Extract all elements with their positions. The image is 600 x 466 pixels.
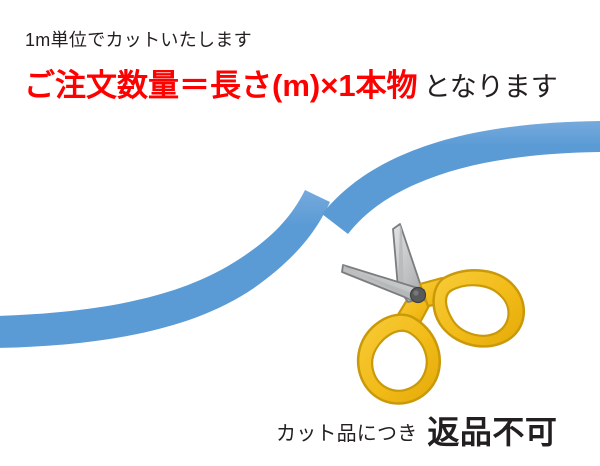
footnote-emphasis: 返品不可	[417, 414, 557, 450]
scissor-pivot-screw	[411, 288, 426, 303]
footnote-line: カット品につき返品不可	[276, 416, 557, 448]
cut-notice-graphic: 1m単位でカットいたします ご注文数量＝長さ(m)×1本物となります カット品に…	[0, 0, 600, 466]
scissor-arm-lower	[358, 224, 440, 404]
headline-formula-tail: となります	[418, 72, 558, 102]
headline-formula-line: ご注文数量＝長さ(m)×1本物となります	[24, 70, 558, 101]
headline-unit-line: 1m単位でカットいたします	[25, 31, 252, 49]
footnote-prefix: カット品につき	[276, 423, 417, 445]
headline-formula-red: ご注文数量＝長さ(m)×1本物	[24, 68, 418, 103]
